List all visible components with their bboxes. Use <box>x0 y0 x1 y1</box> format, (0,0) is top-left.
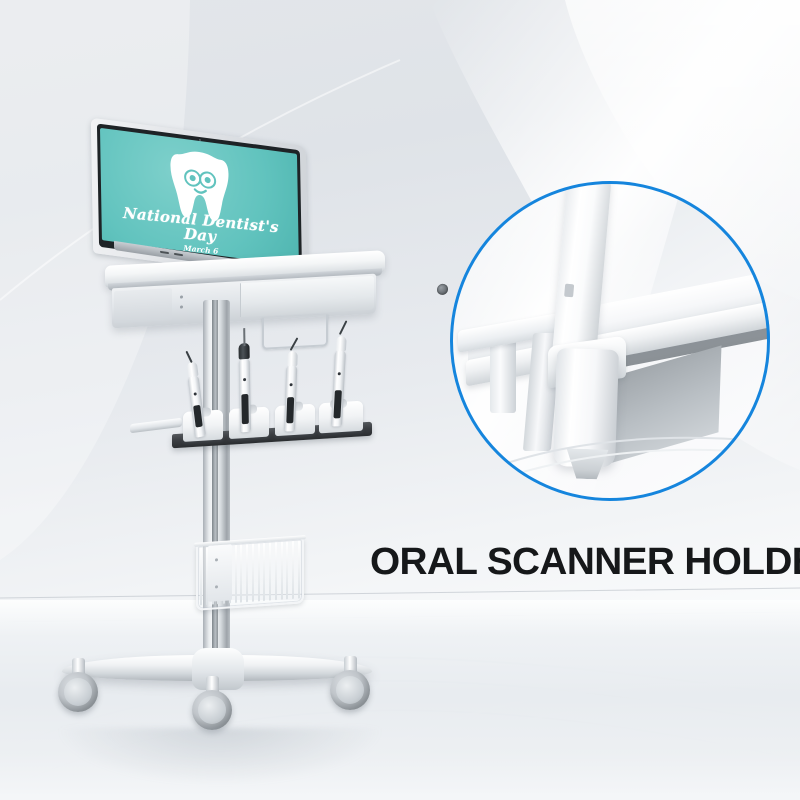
light-guide-icon <box>243 328 245 346</box>
polisher-head <box>287 351 298 366</box>
camera-tip-icon <box>339 320 348 335</box>
handpiece-button[interactable] <box>243 378 246 381</box>
basket-mount-plate <box>208 544 232 602</box>
panel-screw-icon <box>180 305 183 308</box>
mount-screw-icon <box>215 585 218 588</box>
wire-storage-basket <box>196 537 304 611</box>
page-title: ORAL SCANNER HOLDER <box>370 541 800 584</box>
laptop-port <box>174 253 183 256</box>
mount-screw-icon <box>215 558 218 561</box>
column-track <box>212 300 218 665</box>
camera-head <box>336 336 347 351</box>
air-polisher-handpiece[interactable] <box>284 365 297 431</box>
laptop-port <box>160 251 169 254</box>
callout-floor-arcs <box>450 371 770 501</box>
panel-screw-icon <box>180 295 183 298</box>
handpiece-grip <box>241 394 249 425</box>
handpiece-button[interactable] <box>194 392 197 396</box>
curing-light-handpiece[interactable] <box>239 358 251 433</box>
drawer-front[interactable] <box>240 276 374 317</box>
tray-support-arm <box>130 418 182 433</box>
cart-floor-shadow <box>60 728 380 784</box>
handpiece-grip <box>333 390 341 418</box>
handpiece-angle-head <box>187 361 199 378</box>
caster-hub <box>198 696 226 724</box>
dental-trolley-cart: National Dentist's Day March 6 <box>0 0 420 800</box>
caster-hub <box>336 676 364 704</box>
caster-hub <box>64 678 92 706</box>
push-handle[interactable] <box>262 314 328 349</box>
scaler-tip-icon <box>185 351 192 363</box>
handpiece-button[interactable] <box>290 383 293 386</box>
product-banner: National Dentist's Day March 6 <box>0 0 800 800</box>
handpiece-button[interactable] <box>338 372 341 375</box>
handpiece-grip <box>286 397 294 423</box>
handpiece-grip <box>193 405 203 428</box>
laptop: National Dentist's Day March 6 <box>92 132 307 272</box>
drawer-side-panel <box>114 288 172 323</box>
detail-callout-circle <box>450 181 770 501</box>
